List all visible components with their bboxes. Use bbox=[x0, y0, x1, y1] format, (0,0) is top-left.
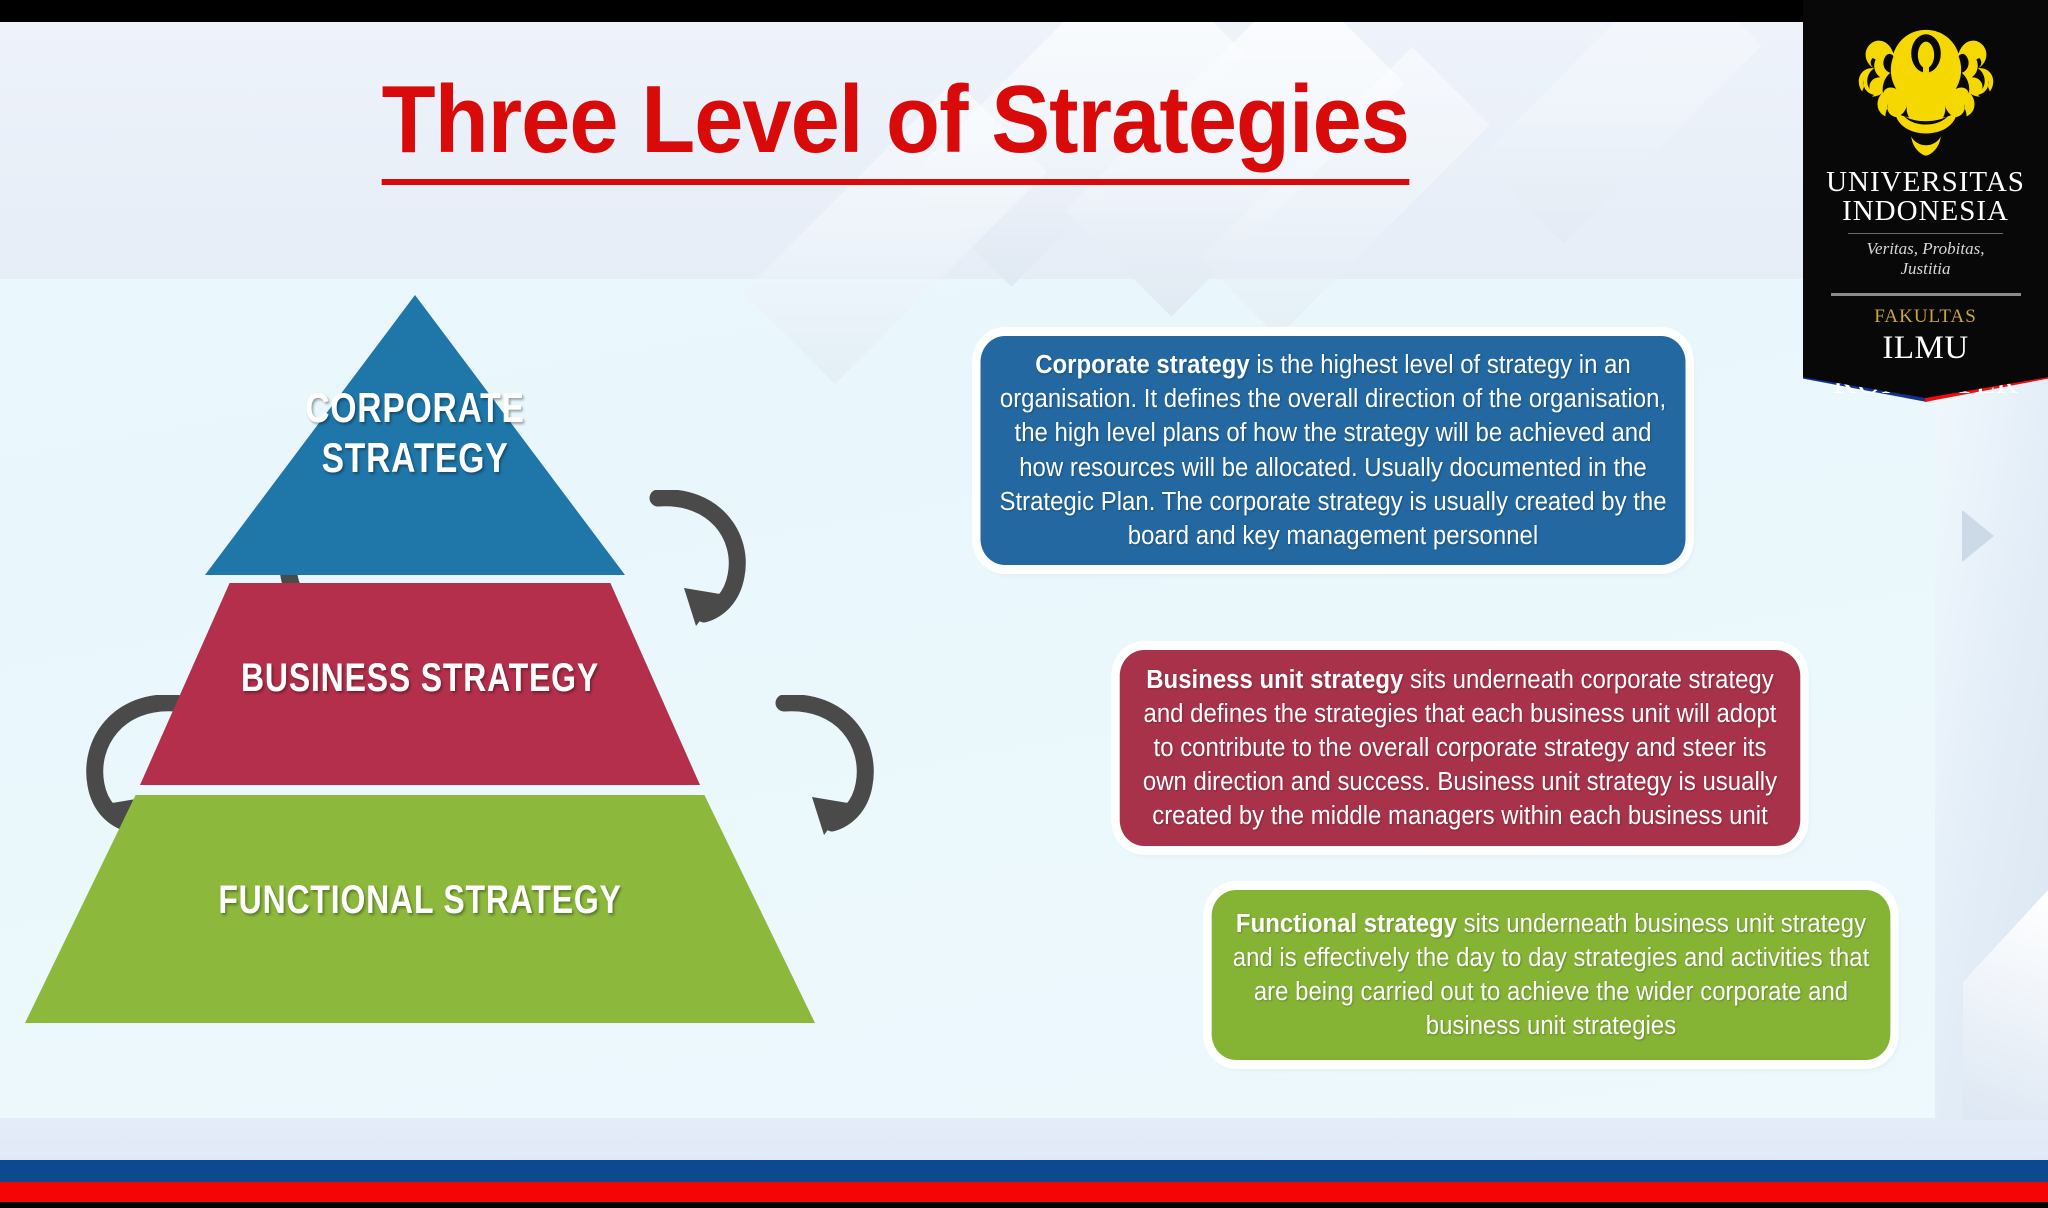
slide-canvas: Three Level of Strategies bbox=[0, 0, 2048, 1208]
faculty-name-line1: ILMU bbox=[1803, 331, 2048, 366]
university-name-line2: INDONESIA bbox=[1803, 197, 2048, 226]
pyramid-level-functional-label: FUNCTIONAL STRATEGY bbox=[104, 877, 736, 924]
callout-functional-lead: Functional strategy bbox=[1236, 910, 1457, 938]
makara-ui-emblem-icon bbox=[1851, 18, 2001, 166]
callout-business-unit-strategy: Business unit strategy sits underneath c… bbox=[1120, 650, 1801, 846]
pyramid-level-corporate-label: CORPORATE STRATEGY bbox=[247, 383, 583, 482]
callout-corporate-strategy: Corporate strategy is the highest level … bbox=[981, 336, 1686, 565]
university-name-line1: UNIVERSITAS bbox=[1803, 168, 2048, 197]
faculty-label: FAKULTAS bbox=[1803, 306, 2048, 328]
pyramid-level-corporate[interactable]: CORPORATE STRATEGY bbox=[205, 295, 625, 575]
callout-corporate-strategy-text: Corporate strategy is the highest level … bbox=[997, 348, 1668, 553]
page-title-container: Three Level of Strategies bbox=[0, 70, 1790, 185]
ui-logo-block: UNIVERSITAS INDONESIA Veritas, Probitas,… bbox=[1803, 0, 2048, 370]
callout-corporate-body: is the highest level of strategy in an o… bbox=[999, 351, 1666, 550]
callout-business-unit-strategy-text: Business unit strategy sits underneath c… bbox=[1133, 662, 1787, 834]
top-black-bar bbox=[0, 0, 2048, 22]
pyramid-level-business[interactable]: BUSINESS STRATEGY bbox=[140, 583, 700, 785]
bottom-black-bar bbox=[0, 1202, 2048, 1208]
bottom-blue-bar bbox=[0, 1160, 2048, 1182]
right-decorative-panel bbox=[1935, 300, 2048, 1120]
university-name: UNIVERSITAS INDONESIA bbox=[1803, 168, 2048, 226]
strategy-pyramid: CORPORATE STRATEGY BUSINESS STRATEGY FUN… bbox=[20, 295, 1120, 1095]
bottom-red-bar bbox=[0, 1182, 2048, 1202]
play-triangle-icon bbox=[1962, 510, 1994, 562]
pyramid-level-corporate-label-line1: CORPORATE bbox=[247, 383, 583, 433]
pyramid-level-functional[interactable]: FUNCTIONAL STRATEGY bbox=[25, 795, 815, 1023]
university-motto: Veritas, Probitas, Justitia bbox=[1848, 233, 2003, 279]
logo-divider bbox=[1831, 293, 2021, 296]
callout-corporate-lead: Corporate strategy bbox=[1035, 351, 1249, 379]
callout-functional-strategy-text: Functional strategy sits underneath busi… bbox=[1227, 902, 1876, 1048]
callout-business-lead: Business unit strategy bbox=[1146, 666, 1403, 694]
page-title: Three Level of Strategies bbox=[381, 70, 1408, 185]
pyramid-level-corporate-label-line2: STRATEGY bbox=[247, 433, 583, 483]
pyramid-level-business-label: BUSINESS STRATEGY bbox=[196, 655, 644, 702]
callout-functional-strategy: Functional strategy sits underneath busi… bbox=[1212, 890, 1891, 1060]
